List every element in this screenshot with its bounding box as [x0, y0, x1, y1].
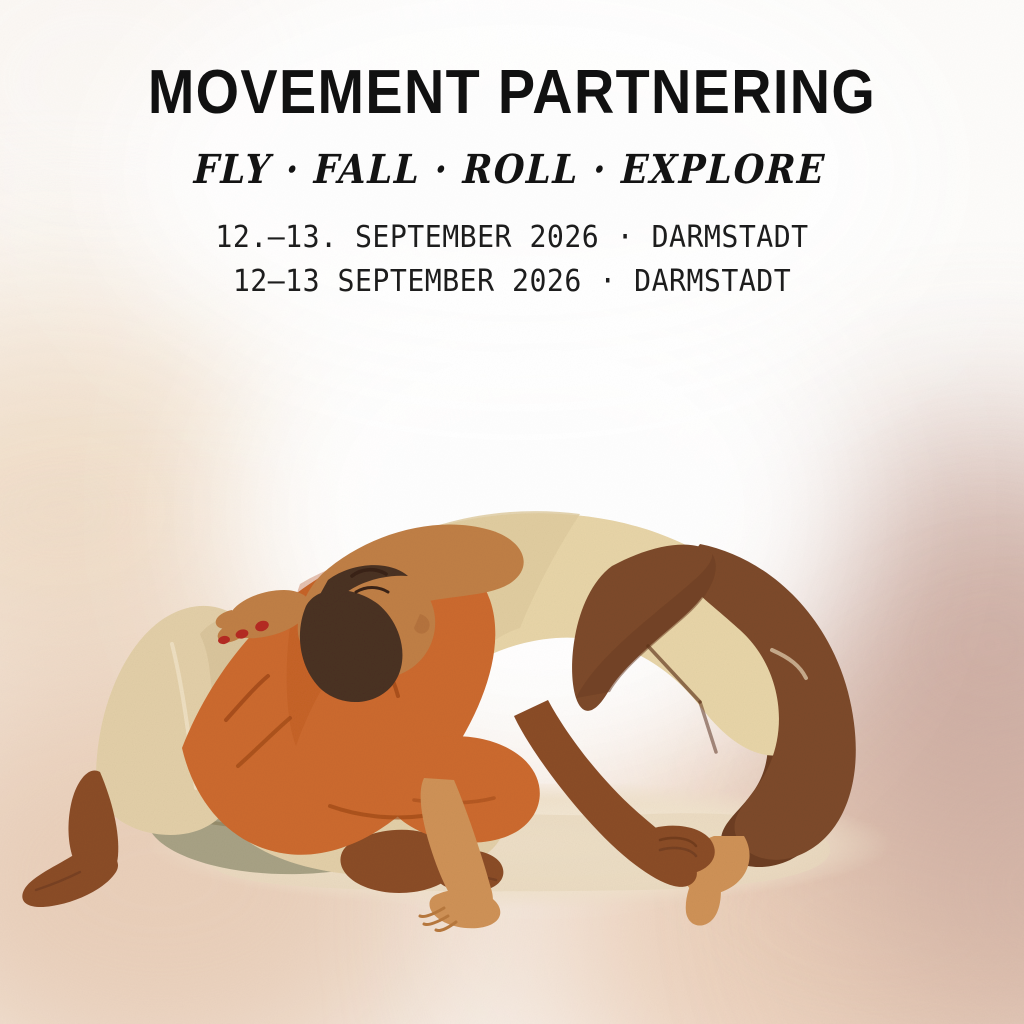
- figure-kneeling-orange: [22, 524, 540, 930]
- date-location-line-english: 12–13 SEPTEMBER 2026 · DARMSTADT: [31, 260, 994, 304]
- poster-subtitle: FLY · FALL · ROLL · EXPLORE: [58, 124, 962, 190]
- date-location-line-german: 12.–13. SEPTEMBER 2026 · DARMSTADT: [31, 190, 994, 260]
- poster-canvas: MOVEMENT PARTNERING FLY · FALL · ROLL · …: [0, 0, 1024, 1024]
- partner-stretch-illustration: [0, 448, 1024, 968]
- poster-text-block: MOVEMENT PARTNERING FLY · FALL · ROLL · …: [0, 0, 1024, 304]
- page-title: MOVEMENT PARTNERING: [51, 0, 973, 124]
